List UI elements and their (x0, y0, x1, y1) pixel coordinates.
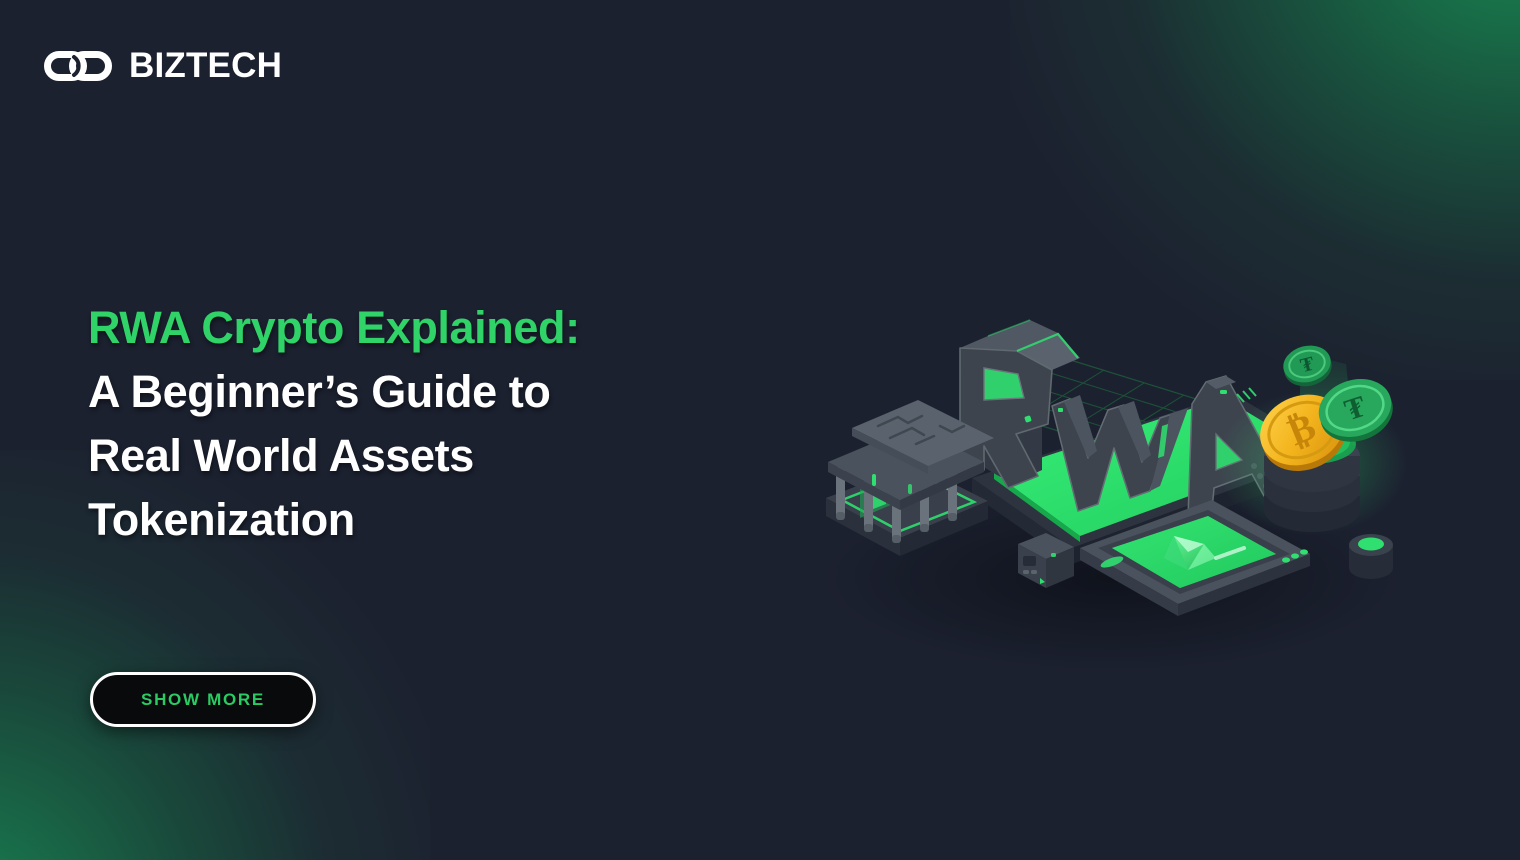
show-more-button[interactable]: SHOW MORE (90, 672, 316, 727)
hero-banner: BIZTECH RWA Crypto Explained: A Beginner… (0, 0, 1520, 860)
glow-cylinder (1349, 534, 1393, 579)
chain-links-icon (44, 46, 112, 86)
brand-name: BIZTECH (129, 46, 282, 86)
page-title: RWA Crypto Explained: A Beginner’s Guide… (88, 296, 748, 552)
headline-line-2: A Beginner’s Guide to (88, 360, 748, 424)
headline-line-1: RWA Crypto Explained: (88, 296, 748, 360)
show-more-label: SHOW MORE (141, 690, 265, 710)
headline-line-3: Real World Assets (88, 424, 748, 488)
brand-logo[interactable]: BIZTECH (44, 46, 282, 86)
rwa-isometric-illustration: ₿ ₮ ₮ (812, 248, 1412, 648)
headline-line-4: Tokenization (88, 488, 748, 552)
